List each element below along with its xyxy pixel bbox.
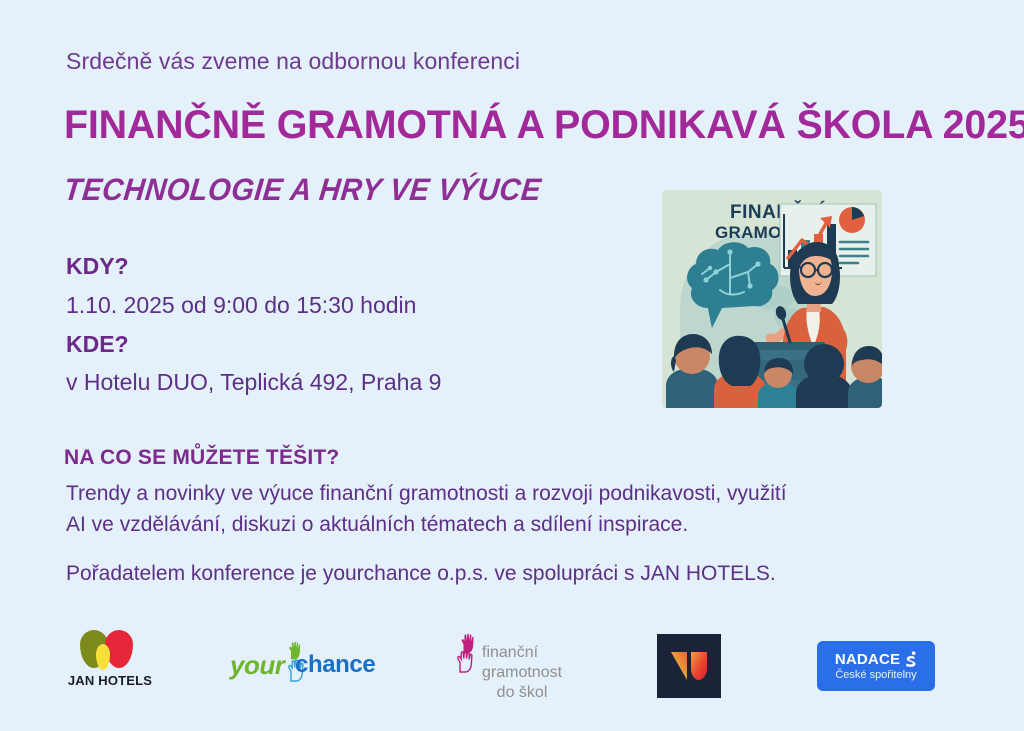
subtitle-theme: TECHNOLOGIE A HRY VE VÝUCE — [62, 172, 543, 208]
where-value: v Hotelu DUO, Teplická 492, Praha 9 — [66, 369, 441, 396]
logo-jan-hotels: JAN HOTELS — [62, 630, 158, 692]
sporitelna-s-icon — [904, 651, 917, 668]
program-heading: NA CO SE MŮŽETE TĚŠIT? — [64, 446, 339, 470]
program-paragraph-line-2: AI ve vzdělávání, diskuzi o aktuálních t… — [66, 509, 688, 540]
nadace-subtitle: České spořitelny — [817, 669, 935, 681]
yourchance-word-chance: chance — [295, 651, 375, 679]
logo-nu — [657, 634, 721, 698]
logo-nadace-ceske-sporitelny: NADACE České spořitelny — [817, 641, 935, 691]
illustration-artwork: FINANČNÍ GRAMOTNOST — [662, 190, 882, 408]
fgds-line-2: gramotnost — [482, 663, 562, 683]
when-value: 1.10. 2025 od 9:00 do 15:30 hodin — [66, 292, 416, 319]
nu-mark — [657, 634, 721, 698]
organizer-line: Pořadatelem konference je yourchance o.p… — [66, 558, 776, 589]
page-title: FINANČNĚ GRAMOTNÁ A PODNIKAVÁ ŠKOLA 2025 — [64, 103, 1024, 148]
conference-poster: Srdečně vás zveme na odbornou konferenci… — [0, 0, 1024, 731]
logo-financni-gramotnost-do-skol: finanční gramotnost do škol — [452, 632, 602, 702]
conference-illustration: FINANČNÍ GRAMOTNOST — [662, 190, 882, 408]
jan-hotels-mark — [74, 630, 146, 670]
fgds-wordmark: finanční gramotnost do škol — [482, 643, 562, 703]
logo-yourchance: your chance — [230, 640, 370, 686]
fgds-line-1: finanční — [482, 643, 562, 663]
where-label: KDE? — [66, 331, 129, 358]
fgds-line-3: do škol — [482, 683, 562, 703]
when-label: KDY? — [66, 253, 129, 280]
nadace-wordmark: NADACE — [835, 651, 900, 668]
jan-hotels-drop-yellow — [96, 644, 110, 670]
program-paragraph-line-1: Trendy a novinky ve výuce finanční gramo… — [66, 478, 787, 509]
jan-hotels-wordmark: JAN HOTELS — [62, 673, 158, 688]
hand-icon-outline — [454, 648, 478, 674]
yourchance-word-your: your — [230, 650, 284, 681]
invitation-line: Srdečně vás zveme na odbornou konferenci — [66, 48, 520, 75]
